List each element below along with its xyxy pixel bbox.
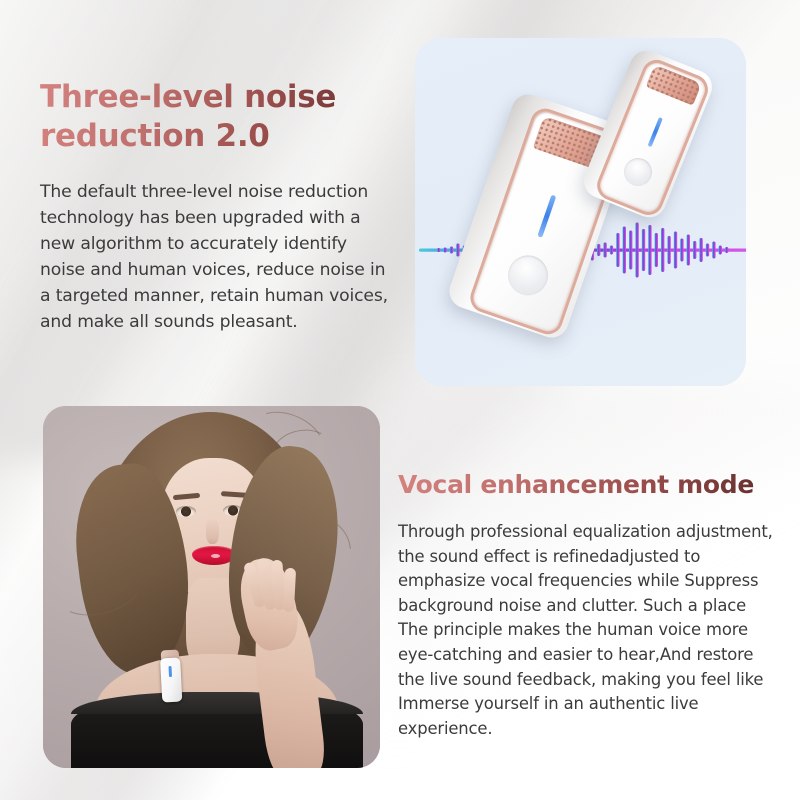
model-eye [176,506,196,517]
vocal-enhancement-text-block: Vocal enhancement mode Through professio… [398,470,780,741]
model-finger [283,568,296,613]
lifestyle-photo-panel [43,406,380,768]
noise-reduction-text-block: Three-level noise reduction 2.0 The defa… [40,78,392,336]
clip-body [160,658,182,703]
lip-highlight [211,554,220,558]
led-indicator [168,666,172,677]
product-image-panel [415,38,746,386]
noise-reduction-heading: Three-level noise reduction 2.0 [40,78,392,157]
model-nose [206,518,219,544]
vocal-enhancement-body-text: Through professional equalization adjust… [398,520,780,741]
noise-reduction-body-text: The default three-level noise reduction … [40,179,392,336]
vocal-enhancement-heading: Vocal enhancement mode [398,470,780,500]
product-feature-page: Three-level noise reduction 2.0 The defa… [0,0,800,800]
worn-clip-microphone [159,649,184,702]
